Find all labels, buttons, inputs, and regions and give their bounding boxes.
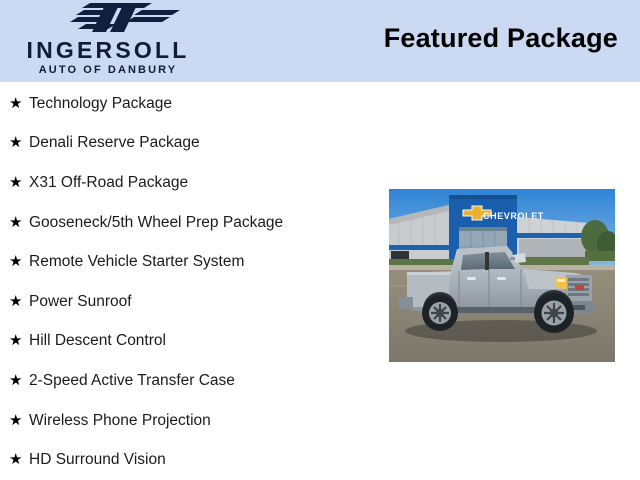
list-item-label: Hill Descent Control: [29, 332, 380, 350]
list-item: ★ Denali Reserve Package: [0, 124, 380, 164]
star-bullet-icon: ★: [9, 215, 29, 231]
dealer-brand-block: INGERSOLL AUTO OF DANBURY: [0, 0, 330, 82]
star-bullet-icon: ★: [9, 135, 29, 151]
list-item-label: Technology Package: [29, 95, 380, 113]
list-item-label: Gooseneck/5th Wheel Prep Package: [29, 214, 380, 232]
star-bullet-icon: ★: [9, 413, 29, 429]
featured-package-page: INGERSOLL AUTO OF DANBURY Featured Packa…: [0, 0, 640, 480]
star-bullet-icon: ★: [9, 373, 29, 389]
brand-wordmark: INGERSOLL: [8, 38, 208, 62]
star-bullet-icon: ★: [9, 452, 29, 468]
list-item-label: 2-Speed Active Transfer Case: [29, 372, 380, 390]
list-item: ★ Gooseneck/5th Wheel Prep Package: [0, 203, 380, 243]
star-bullet-icon: ★: [9, 175, 29, 191]
list-item: ★ Power Sunroof: [0, 282, 380, 322]
list-item: ★ HD Surround Vision: [0, 440, 380, 480]
star-bullet-icon: ★: [9, 254, 29, 270]
list-item-label: Denali Reserve Package: [29, 134, 380, 152]
brand-tagline: AUTO OF DANBURY: [8, 64, 208, 76]
star-bullet-icon: ★: [9, 333, 29, 349]
list-item: ★ Wireless Phone Projection: [0, 401, 380, 441]
list-item: ★ Hill Descent Control: [0, 322, 380, 362]
list-item: ★ Technology Package: [0, 84, 380, 124]
list-item-label: X31 Off-Road Package: [29, 174, 380, 192]
page-title: Featured Package: [384, 23, 618, 54]
list-item: ★ Remote Vehicle Starter System: [0, 242, 380, 282]
star-bullet-icon: ★: [9, 294, 29, 310]
feature-list: ★ Technology Package ★ Denali Reserve Pa…: [0, 84, 380, 480]
list-item: ★ 2-Speed Active Transfer Case: [0, 361, 380, 401]
list-item-label: Remote Vehicle Starter System: [29, 253, 380, 271]
list-item-label: Power Sunroof: [29, 293, 380, 311]
star-bullet-icon: ★: [9, 96, 29, 112]
list-item-label: HD Surround Vision: [29, 451, 380, 469]
ingersoll-winged-emblem-icon: [48, 2, 198, 36]
page-header: INGERSOLL AUTO OF DANBURY Featured Packa…: [0, 0, 640, 82]
vehicle-photo: CHEVROLET: [389, 189, 615, 362]
list-item: ★ X31 Off-Road Package: [0, 163, 380, 203]
list-item-label: Wireless Phone Projection: [29, 412, 380, 430]
